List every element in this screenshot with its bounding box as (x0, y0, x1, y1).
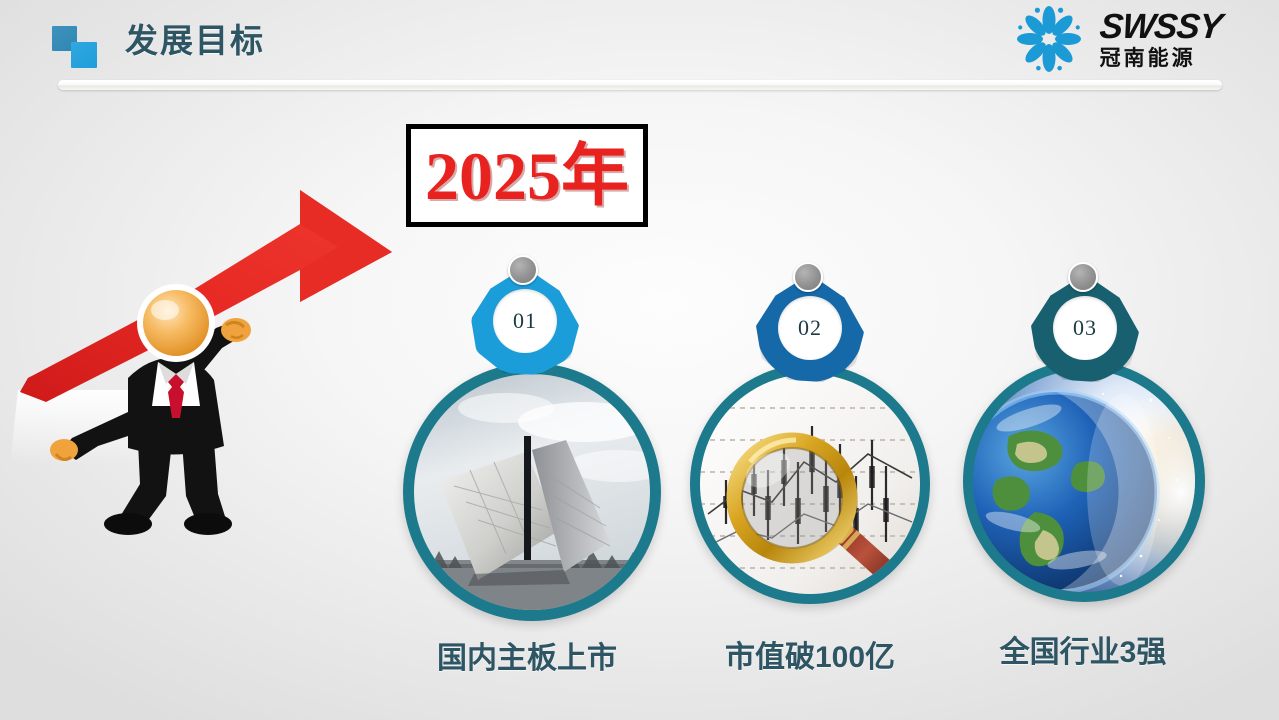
goal-pin-02[interactable]: 02 (756, 262, 864, 388)
modern-architecture-photo (414, 374, 650, 610)
year-badge-text: 2025年 (425, 142, 629, 210)
goal-pin-01[interactable]: 01 (471, 255, 579, 381)
year-badge: 2025年 (406, 124, 648, 227)
businessman-on-rising-arrow-illustration (0, 120, 420, 540)
company-logo: SWSSY 冠南能源 (1010, 4, 1221, 74)
logo-subtitle: 冠南能源 (1100, 48, 1221, 69)
goal-number-02: 02 (778, 296, 842, 360)
goal-circle-frame-02 (690, 364, 930, 604)
slide-header: 发展目标 (0, 0, 1279, 90)
pin-head-icon (508, 255, 538, 285)
pin-head-icon (793, 262, 823, 292)
goal-caption-03: 全国行业3强 (913, 627, 1253, 671)
page-title: 发展目标 (125, 18, 265, 64)
logo-name: SWSSY (1098, 9, 1223, 44)
goal-number-03: 03 (1053, 296, 1117, 360)
header-divider (58, 80, 1222, 90)
goal-number-01: 01 (493, 289, 557, 353)
header-decor-square-lower (71, 42, 97, 68)
goal-pin-03[interactable]: 03 (1031, 262, 1139, 388)
logo-wordmark: SWSSY 冠南能源 (1100, 9, 1221, 69)
goal-circle-frame-03 (963, 360, 1205, 602)
goal-circle-frame-01 (403, 363, 661, 621)
earth-from-space-photo (973, 370, 1195, 592)
slide-canvas: 发展目标 (0, 0, 1279, 720)
water-droplet-flower-icon (1010, 5, 1088, 73)
pin-head-icon (1068, 262, 1098, 292)
magnifying-glass-stock-chart-photo (700, 374, 920, 594)
